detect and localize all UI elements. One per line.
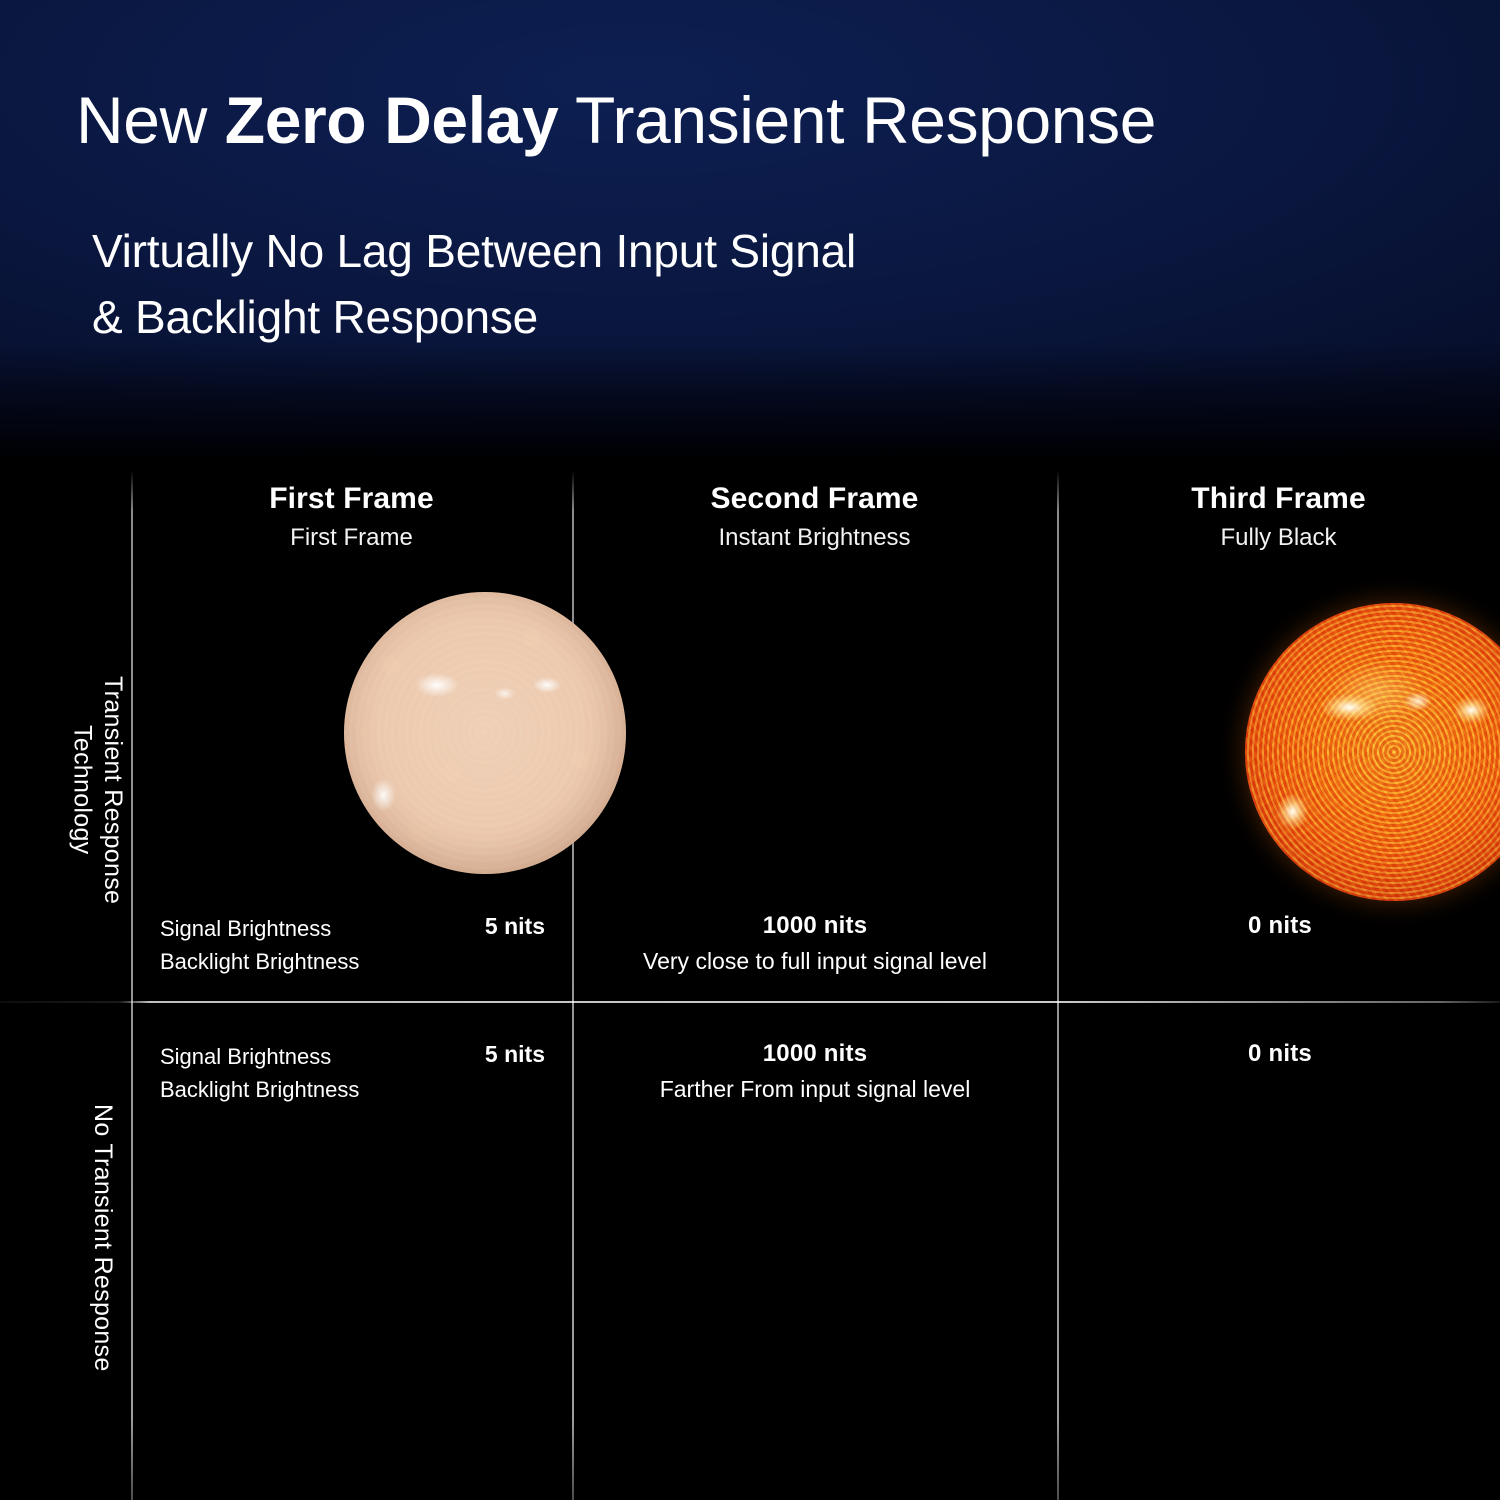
brightness-labels: Signal Brightness Backlight Brightness bbox=[160, 1040, 359, 1107]
headline-pre: New bbox=[76, 83, 225, 157]
comparison-matrix: First Frame First Frame Second Frame Ins… bbox=[0, 462, 1500, 1500]
caption-row1-col1: Signal Brightness Backlight Brightness 5… bbox=[160, 912, 545, 979]
subheadline: Virtually No Lag Between Input Signal & … bbox=[92, 218, 856, 350]
backlight-brightness-label: Backlight Brightness bbox=[160, 945, 359, 978]
signal-brightness-label: Signal Brightness bbox=[160, 1040, 359, 1073]
caption-row2-col2: 1000 nits Farther From input signal leve… bbox=[590, 1040, 1040, 1103]
hero-bottom-fade bbox=[0, 342, 1500, 462]
caption-row1-col2: 1000 nits Very close to full input signa… bbox=[590, 912, 1040, 975]
caption-row2-col3: 0 nits bbox=[1075, 1040, 1485, 1068]
hero-banner: New Zero Delay Transient Response Virtua… bbox=[0, 0, 1500, 462]
nits-value: 5 nits bbox=[485, 912, 545, 940]
headline-emphasis: Zero Delay bbox=[225, 83, 558, 157]
subheadline-line-1: Virtually No Lag Between Input Signal bbox=[92, 225, 856, 277]
caption-row2-col1: Signal Brightness Backlight Brightness 5… bbox=[160, 1040, 545, 1107]
caption-row1-col3: 0 nits bbox=[1075, 912, 1485, 940]
nits-note: Very close to full input signal level bbox=[590, 948, 1040, 975]
headline: New Zero Delay Transient Response bbox=[76, 86, 1156, 156]
headline-post: Transient Response bbox=[558, 83, 1156, 157]
nits-value: 0 nits bbox=[1075, 912, 1485, 940]
cell-row2-col3 bbox=[1059, 1003, 1500, 1500]
promo-graphic: New Zero Delay Transient Response Virtua… bbox=[0, 0, 1500, 1500]
subheadline-line-2: & Backlight Response bbox=[92, 284, 856, 350]
nits-note: Farther From input signal level bbox=[590, 1076, 1040, 1103]
nits-value: 0 nits bbox=[1075, 1040, 1485, 1068]
nits-value: 1000 nits bbox=[590, 1040, 1040, 1068]
nits-value: 5 nits bbox=[485, 1040, 545, 1068]
backlight-brightness-label: Backlight Brightness bbox=[160, 1073, 359, 1106]
signal-brightness-label: Signal Brightness bbox=[160, 912, 359, 945]
nits-value: 1000 nits bbox=[590, 912, 1040, 940]
row-label-no-transient-response: No Transient Response bbox=[72, 1028, 118, 1448]
brightness-labels: Signal Brightness Backlight Brightness bbox=[160, 912, 359, 979]
row-label-transient-response-technology: Transient Response Technology bbox=[62, 590, 128, 990]
